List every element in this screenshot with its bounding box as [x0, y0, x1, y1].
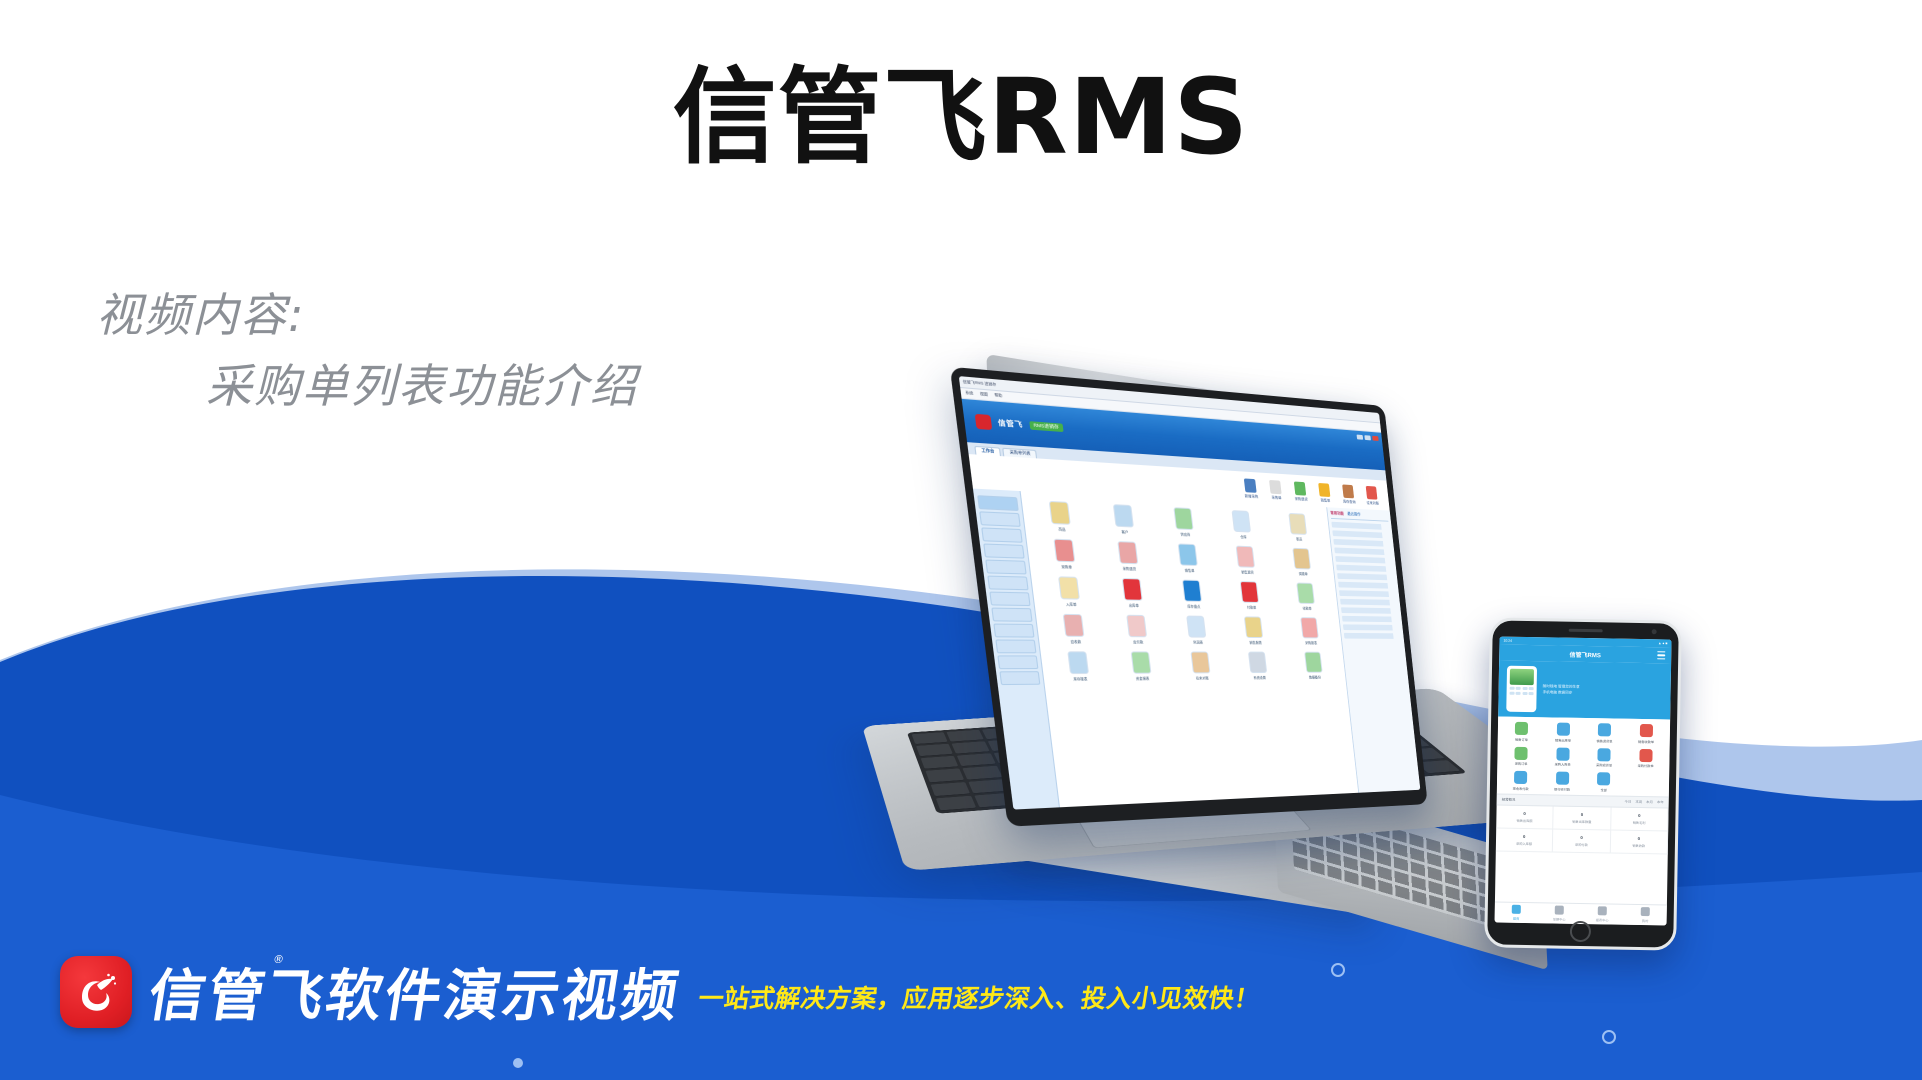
sidebar-item[interactable]	[997, 655, 1038, 669]
workbench-icon-label: 往来对账	[1196, 675, 1209, 680]
phone-tile[interactable]: 销售出库单	[1543, 722, 1583, 742]
phone-stat-cell: 0销售出库数量	[1554, 806, 1612, 830]
sidebar-item[interactable]	[989, 592, 1030, 607]
phone-tile[interactable]: 采购订单	[1501, 746, 1541, 766]
workbench-icon-cell[interactable]: 客户	[1093, 503, 1154, 535]
workbench-icon	[1130, 651, 1151, 673]
phone-tile[interactable]: 采购入库单	[1543, 747, 1583, 767]
workbench-icon-cell[interactable]: 采购退货	[1097, 540, 1158, 572]
decorative-dot	[1331, 963, 1345, 977]
phone-stat-value: 0	[1523, 833, 1525, 838]
phone-tile-label: 现金收付款	[1513, 785, 1529, 790]
new-purchase-icon	[1244, 478, 1257, 492]
footer-tagline: 一站式解决方案，应用逐步深入、投入小见效快！	[696, 979, 1263, 1015]
phone-tile-label: 销售订单	[1515, 736, 1528, 741]
phone-tile-label: 采购退货单	[1596, 762, 1612, 767]
right-panel-row[interactable]	[1337, 573, 1395, 580]
workbench-icon-cell[interactable]: 入库单	[1038, 576, 1101, 607]
phone-tile[interactable]: 销售退货单	[1585, 723, 1625, 743]
workbench-icon-label: 客户	[1121, 529, 1128, 534]
decorative-dot	[513, 1058, 523, 1068]
device-mockup-group: 信管飞RMS 进销存 系统 视图 帮助 信管飞 RMS进销存	[880, 370, 1922, 970]
right-panel-row[interactable]	[1343, 624, 1400, 630]
keyboard-key	[947, 730, 984, 742]
workbench-icon	[1190, 651, 1210, 673]
workbench-icon-label: 采购单	[1061, 564, 1072, 570]
laptop-front-lid: 信管飞RMS 进销存 系统 视图 帮助 信管飞 RMS进销存	[950, 367, 1428, 827]
workbench-icon-cell[interactable]: 付款单	[1222, 581, 1278, 610]
workbench-icon	[1067, 651, 1089, 674]
toolbar-button-purchase-return[interactable]: 采购退货	[1291, 481, 1310, 502]
workbench-icon-label: 仓库	[1240, 534, 1247, 539]
phone-stat-label: 采购付款	[1575, 841, 1588, 846]
sidebar-item[interactable]	[979, 511, 1021, 527]
phone-screen: 10:24 ▲ ● ■ 信管飞RMS 随时随地 管理您的生意 手机电脑 数据同步…	[1495, 637, 1672, 926]
phone-speaker	[1569, 629, 1603, 633]
toolbar-label: 新增采购	[1244, 494, 1258, 500]
phone-nav-label: 我的	[1642, 918, 1648, 923]
toolbar-button-reconciliation[interactable]: 往来对账	[1363, 485, 1381, 506]
right-panel-row[interactable]	[1342, 616, 1399, 622]
workbench-icon	[1117, 541, 1138, 564]
keyboard-key	[926, 769, 965, 783]
phone-stat-value: 0	[1638, 835, 1640, 840]
phone-tile-icon	[1597, 772, 1610, 785]
phone-nav-home[interactable]: 首页	[1495, 902, 1538, 923]
banner-grid	[1510, 687, 1534, 695]
workbench-icon	[1236, 546, 1255, 568]
phone-nav-label: 单据中心	[1553, 916, 1566, 921]
phone-tile[interactable]: 现金收付款	[1501, 771, 1541, 791]
keyboard-key	[936, 796, 977, 811]
phone-banner-device-icon	[1506, 666, 1537, 713]
workbench-icon-label: 采购退货	[1122, 566, 1136, 571]
workbench-icon	[1288, 513, 1307, 535]
app-brand-name: 信管飞	[997, 418, 1023, 431]
right-panel-row[interactable]	[1333, 539, 1391, 547]
phone-tile[interactable]: 采购付款单	[1626, 748, 1666, 768]
phone-tile-icon	[1598, 748, 1611, 761]
workbench-icon-label: 应付款	[1133, 639, 1144, 644]
workbench-icon-label: 收款单	[1302, 606, 1311, 611]
workbench-icon	[1126, 615, 1147, 638]
app-window-title: 信管飞RMS 进销存	[963, 379, 997, 387]
workbench-icon-cell[interactable]: 销售退货	[1218, 545, 1274, 575]
home-icon	[1512, 905, 1521, 914]
video-content-topic: 采购单列表功能介绍	[206, 351, 638, 422]
phone-tile-label: 销售出库单	[1555, 737, 1571, 742]
phone-status-icons: ▲ ● ■	[1658, 641, 1667, 645]
workbench-icon-cell[interactable]: 库存报表	[1047, 651, 1110, 681]
workbench-icon	[1292, 548, 1311, 570]
phone-section-tabs[interactable]: 今日 本周 本月 本年	[1625, 799, 1664, 805]
right-panel-row[interactable]	[1335, 556, 1393, 564]
phone-nav-chart[interactable]: 报表中心	[1581, 904, 1624, 925]
phone-stat-label: 销售出库数量	[1572, 818, 1591, 823]
phone-home-button[interactable]	[1570, 921, 1591, 942]
workbench-icon-label: 销售单	[1184, 568, 1194, 573]
phone-banner: 随时随地 管理您的生意 手机电脑 数据同步	[1498, 661, 1671, 720]
workbench-icon	[1182, 580, 1202, 602]
phone-stats-grid: 0销售出库额0销售出库数量0销售毛利0采购入库额0采购付款0销售收款	[1496, 805, 1669, 854]
purchase-return-icon	[1294, 481, 1306, 495]
workbench-icon-cell[interactable]: 库存盘点	[1163, 579, 1221, 609]
sidebar-item[interactable]	[981, 527, 1023, 542]
video-content-block: 视频内容: 采购单列表功能介绍	[96, 280, 638, 423]
toolbar-button-new-purchase[interactable]: 新增采购	[1241, 478, 1260, 500]
phone-tile[interactable]: 银行收付款	[1542, 771, 1582, 791]
phone-tile-label: 全部	[1600, 787, 1606, 792]
right-panel-row[interactable]	[1341, 607, 1399, 614]
phone-nav-label: 报表中心	[1596, 917, 1609, 922]
registered-mark: ®	[272, 953, 288, 966]
keyboard-key	[931, 782, 971, 797]
phone-tile-label: 采购订单	[1515, 761, 1528, 766]
toolbar-button-purchase-order[interactable]: 采购单	[1266, 479, 1285, 500]
toolbar-label: 采购退货	[1294, 496, 1308, 502]
workbench-icon-cell[interactable]: 仓库	[1214, 509, 1271, 540]
sidebar-item[interactable]	[985, 560, 1026, 575]
workbench-icon-cell[interactable]: 销售单	[1159, 543, 1218, 574]
toolbar-button-sales-order[interactable]: 销售单	[1315, 482, 1333, 503]
app-brand-badge: RMS进销存	[1029, 421, 1064, 432]
phone-tab-week[interactable]: 本周	[1635, 799, 1642, 804]
workbench-icon	[1121, 578, 1142, 601]
workbench-icon-cell[interactable]: 销售报表	[1226, 616, 1282, 645]
phone-section-title: 经营概况	[1502, 797, 1516, 802]
phone-tile-label: 销售退货单	[1597, 738, 1613, 743]
phone-tile-label: 采购付款单	[1638, 763, 1654, 768]
phone-app-bar: 信管飞RMS	[1499, 645, 1671, 664]
toolbar-label: 销售单	[1320, 498, 1330, 503]
phone-tab-year[interactable]: 本年	[1657, 799, 1664, 804]
phone-tile-label: 银行收付款	[1554, 786, 1570, 791]
workbench-icon-label: 系统设置	[1253, 675, 1266, 680]
footer-brand-text: 信管飞软件演示视频	[144, 964, 685, 1029]
workbench-icon-label: 商品	[1058, 526, 1066, 532]
right-tab-recent[interactable]: 最近操作	[1347, 512, 1361, 517]
right-tab-common[interactable]: 常用功能	[1330, 511, 1344, 516]
phone-stat-value: 0	[1523, 810, 1525, 815]
user-icon	[1641, 907, 1650, 916]
phone-stat-label: 销售毛利	[1633, 819, 1646, 824]
right-panel-row[interactable]	[1340, 599, 1398, 606]
workbench-icon-cell[interactable]: 利润表	[1167, 615, 1225, 644]
banner-image	[1510, 669, 1534, 685]
decorative-dot	[1602, 1030, 1616, 1044]
workbench-icon-cell[interactable]: 系统设置	[1230, 652, 1286, 680]
phone-camera-icon	[1652, 629, 1657, 634]
workbench-icon-label: 销售报表	[1249, 640, 1262, 645]
phone-tile-icon	[1515, 746, 1528, 759]
phone-tile-label: 采购入库单	[1555, 762, 1571, 767]
workbench-icon-cell[interactable]: 收款单	[1279, 582, 1333, 611]
minimize-icon[interactable]	[1357, 435, 1364, 440]
footer-bar: 信管飞软件演示视频 ® 一站式解决方案，应用逐步深入、投入小见效快！	[60, 951, 1260, 1032]
phone-tile-icon	[1515, 722, 1528, 735]
phone-tile-icon	[1639, 748, 1652, 761]
sidebar-item[interactable]	[977, 495, 1019, 511]
right-panel-row[interactable]	[1344, 633, 1401, 639]
workbench-icon	[1244, 616, 1263, 638]
phone-app-title: 信管飞RMS	[1570, 649, 1601, 659]
keyboard-key	[952, 741, 990, 754]
phone-tile-icon	[1556, 747, 1569, 760]
phone-stat-label: 销售收款	[1632, 842, 1645, 847]
menu-item-view[interactable]: 视图	[980, 392, 989, 398]
sales-order-icon	[1318, 483, 1330, 497]
phone-tile-icon	[1598, 723, 1611, 736]
phone-banner-text: 随时随地 管理您的生意 手机电脑 数据同步	[1543, 683, 1580, 696]
workbench-icon-grid: 商品客户供应商仓库职员采购单采购退货销售单销售退货调拨单入库单出库单库存盘点付款…	[1028, 500, 1340, 682]
app-body: 商品客户供应商仓库职员采购单采购退货销售单销售退货调拨单入库单出库单库存盘点付款…	[973, 489, 1420, 810]
workbench-icon-cell[interactable]: 供应商	[1154, 506, 1213, 538]
hamburger-menu-icon[interactable]	[1657, 651, 1665, 659]
toolbar-label: 采购单	[1271, 495, 1281, 500]
workbench-icon-label: 采购报表	[1305, 640, 1317, 645]
phone-tile-label: 销售收款单	[1638, 738, 1654, 743]
workbench-icon-label: 入库单	[1066, 601, 1077, 606]
workbench-icon-label: 出库单	[1128, 603, 1139, 608]
workbench-icon	[1232, 510, 1251, 532]
keyboard-key	[912, 732, 949, 744]
workbench-icon	[1049, 501, 1071, 525]
phone-tile[interactable]: 采购退货单	[1584, 748, 1624, 768]
workbench-icon	[1248, 652, 1267, 673]
window-controls[interactable]	[1357, 435, 1379, 441]
app-brand-logo-icon	[975, 414, 993, 430]
workbench-icon	[1112, 504, 1133, 527]
phone-stat-label: 销售出库额	[1517, 817, 1533, 822]
stock-query-icon	[1342, 484, 1354, 498]
workbench-icon-label: 调拨单	[1298, 571, 1307, 576]
sidebar-item[interactable]	[987, 576, 1028, 591]
keyboard-key	[957, 753, 996, 766]
desktop-app-window: 信管飞RMS 进销存 系统 视图 帮助 信管飞 RMS进销存	[959, 376, 1421, 809]
right-panel-row[interactable]	[1338, 582, 1396, 589]
phone-stat-value: 0	[1580, 834, 1582, 839]
close-icon[interactable]	[1372, 436, 1379, 441]
right-panel-tabs: 常用功能 最近操作	[1330, 511, 1388, 521]
workbench-icon-cell[interactable]: 应收款	[1042, 614, 1105, 645]
workbench-icon	[1054, 539, 1076, 563]
sidebar-item[interactable]	[993, 624, 1034, 638]
phone-stat-label: 采购入库额	[1516, 840, 1532, 845]
workbench-icon	[1240, 581, 1259, 603]
workbench-icon	[1178, 543, 1198, 566]
phone-stat-cell: 0销售收款	[1610, 830, 1668, 854]
workbench-icon-cell[interactable]: 采购报表	[1283, 617, 1337, 645]
keyboard-key	[963, 766, 1003, 780]
workbench-icon-cell[interactable]: 往来对账	[1172, 651, 1230, 680]
tab-workbench[interactable]: 工作台	[974, 446, 1001, 456]
workbench-icon	[1058, 576, 1080, 599]
phone-tile[interactable]: 全部	[1584, 772, 1624, 792]
phone-stat-cell: 0销售毛利	[1611, 807, 1669, 831]
laptop-screen: 信管飞RMS 进销存 系统 视图 帮助 信管飞 RMS进销存	[959, 376, 1421, 809]
phone-tile-icon	[1557, 723, 1570, 736]
workbench-icon	[1063, 614, 1085, 637]
workbench-icon-cell[interactable]: 采购单	[1033, 538, 1097, 570]
workbench-icon-label: 供应商	[1180, 532, 1190, 537]
workbench-icon-label: 库存盘点	[1187, 604, 1200, 609]
phone-banner-line2: 手机电脑 数据同步	[1543, 689, 1580, 696]
right-panel-row[interactable]	[1336, 565, 1394, 572]
phone-tab-today[interactable]: 今日	[1625, 799, 1632, 804]
phone-stat-cell: 0采购入库额	[1496, 828, 1554, 852]
workbench-icon-label: 销售退货	[1241, 569, 1254, 574]
purchase-order-icon	[1269, 479, 1282, 493]
sidebar-item[interactable]	[983, 543, 1024, 558]
toolbar-button-stock-query[interactable]: 库存查询	[1339, 484, 1357, 505]
workbench-icon-label: 职员	[1296, 536, 1303, 541]
reconciliation-icon	[1366, 485, 1378, 499]
footer-brand-title: 信管飞软件演示视频 ®	[144, 951, 688, 1032]
workbench-icon-label: 利润表	[1193, 640, 1203, 645]
workbench-icon-cell[interactable]: 应付款	[1106, 614, 1167, 644]
phone-stat-cell: 0采购付款	[1553, 829, 1611, 853]
phone-stat-value: 0	[1581, 811, 1583, 816]
workbench-icon-cell[interactable]: 调拨单	[1275, 547, 1329, 577]
phone-tile-icon	[1640, 724, 1653, 737]
video-content-label: 视频内容:	[96, 280, 638, 351]
phone-tab-month[interactable]: 本月	[1646, 799, 1653, 804]
sidebar-item[interactable]	[999, 671, 1040, 685]
sidebar-item[interactable]	[991, 608, 1032, 622]
phone-nav-user[interactable]: 我的	[1624, 905, 1667, 926]
phone-tile-grid: 销售订单销售出库单销售退货单销售收款单采购订单采购入库单采购退货单采购付款单现金…	[1497, 717, 1670, 796]
right-panel-row[interactable]	[1339, 590, 1397, 597]
app-main-workbench: 商品客户供应商仓库职员采购单采购退货销售单销售退货调拨单入库单出库单库存盘点付款…	[1021, 491, 1359, 807]
phone-status-time: 10:24	[1503, 639, 1512, 643]
laptop-front: 信管飞RMS 进销存 系统 视图 帮助 信管飞 RMS进销存	[870, 380, 1570, 940]
keyboard-key	[916, 744, 953, 757]
workbench-icon-cell[interactable]: 数据备份	[1286, 652, 1340, 680]
phone-tile-icon	[1556, 772, 1569, 785]
right-panel-row[interactable]	[1331, 522, 1389, 530]
document-icon	[1555, 906, 1564, 915]
logo-bird-glyph	[69, 968, 123, 1018]
phone-tile[interactable]: 销售订单	[1502, 722, 1542, 742]
page-title: 信管飞RMS	[0, 58, 1922, 178]
menu-item-help[interactable]: 帮助	[994, 393, 1002, 399]
toolbar-label: 往来对账	[1366, 500, 1379, 505]
workbench-icon-label: 应收款	[1070, 639, 1081, 644]
workbench-icon-cell[interactable]: 出库单	[1102, 577, 1163, 608]
workbench-icon	[1173, 507, 1193, 530]
workbench-icon-cell[interactable]: 资金报表	[1111, 651, 1172, 681]
sidebar-item[interactable]	[995, 639, 1036, 653]
workbench-icon-label: 资金报表	[1136, 676, 1150, 681]
keyboard-key	[921, 756, 959, 769]
workbench-icon	[1296, 583, 1315, 604]
phone-stat-value: 0	[1638, 812, 1640, 817]
phone-nav-document[interactable]: 单据中心	[1538, 903, 1581, 924]
right-panel-row[interactable]	[1332, 530, 1390, 538]
menu-item-system[interactable]: 系统	[965, 391, 974, 397]
workbench-icon-label: 数据备份	[1309, 675, 1321, 680]
maximize-icon[interactable]	[1364, 435, 1371, 440]
phone-tile[interactable]: 销售收款单	[1626, 724, 1666, 744]
workbench-icon	[1300, 617, 1319, 638]
workbench-icon	[1304, 652, 1323, 673]
workbench-icon-label: 付款单	[1247, 605, 1257, 610]
phone-tile-icon	[1514, 771, 1527, 784]
right-panel-rows	[1331, 522, 1401, 639]
flying-bird-logo-icon	[60, 956, 132, 1028]
workbench-icon-cell[interactable]: 商品	[1028, 500, 1092, 533]
phone-stat-cell: 0销售出库额	[1496, 805, 1554, 829]
phone-nav-label: 首页	[1513, 916, 1519, 921]
workbench-icon-label: 库存报表	[1073, 676, 1087, 681]
workbench-icon	[1186, 616, 1206, 638]
chart-icon	[1598, 907, 1607, 916]
workbench-icon-cell[interactable]: 职员	[1270, 512, 1324, 542]
toolbar-label: 库存查询	[1343, 499, 1356, 504]
right-panel-row[interactable]	[1334, 547, 1392, 555]
phone-mockup: 10:24 ▲ ● ■ 信管飞RMS 随时随地 管理您的生意 手机电脑 数据同步…	[1484, 617, 1682, 950]
